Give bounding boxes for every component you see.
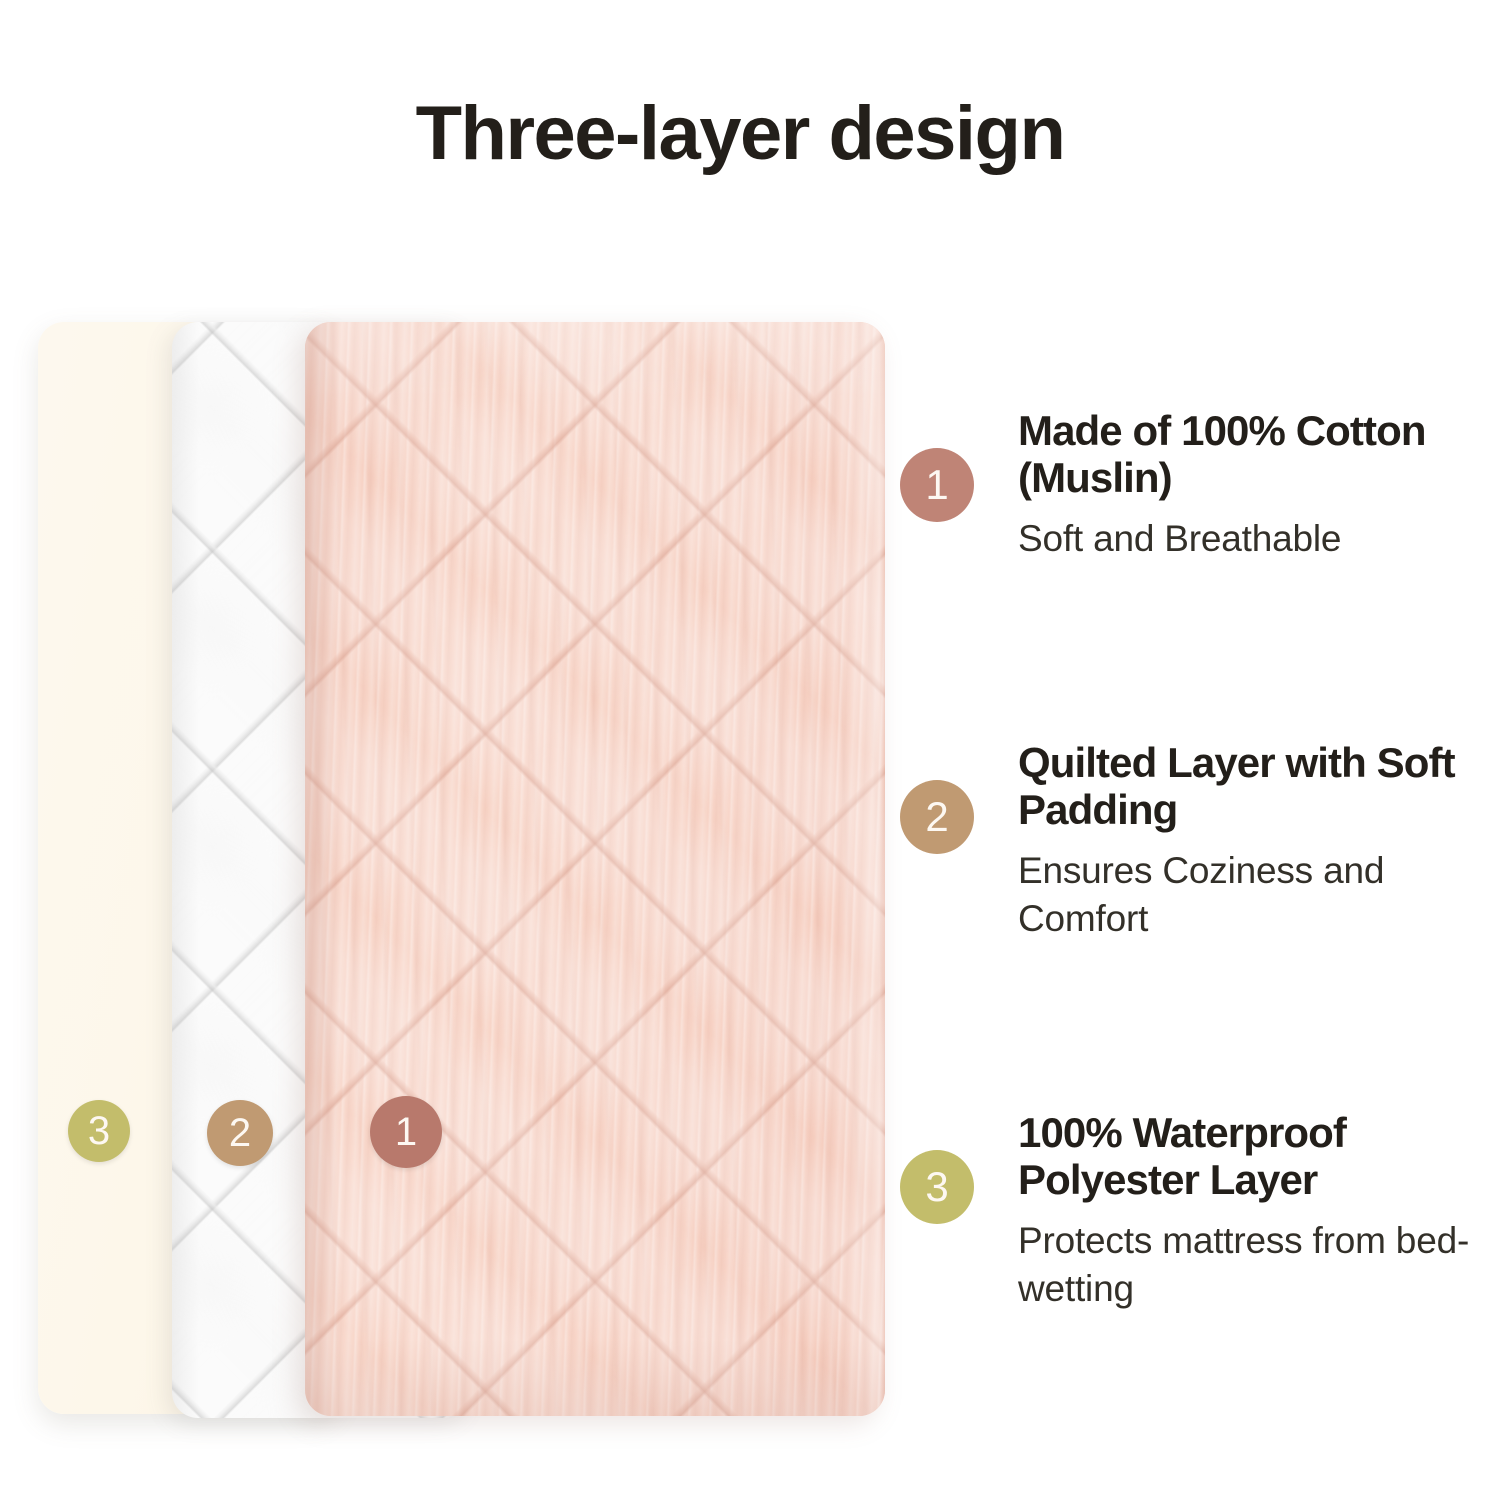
feature-item-cotton-muslin: 1 Made of 100% Cotton (Muslin) Soft and … [900, 408, 1500, 563]
feature-title-2: Quilted Layer with Soft Padding [1018, 740, 1500, 833]
feature-list: 1 Made of 100% Cotton (Muslin) Soft and … [900, 300, 1500, 1430]
stack-badge-3: 3 [68, 1100, 130, 1162]
feature-text-block: Made of 100% Cotton (Muslin) Soft and Br… [1018, 408, 1500, 563]
feature-subtitle-3: Protects mattress from bed-wetting [1018, 1217, 1500, 1312]
stack-badge-2: 2 [207, 1100, 273, 1166]
feature-text-block: Quilted Layer with Soft Padding Ensures … [1018, 740, 1500, 942]
feature-badge-2: 2 [900, 780, 974, 854]
product-layer-cotton-muslin [305, 322, 885, 1416]
layer-edge-shading [305, 322, 885, 1416]
feature-item-quilted-padding: 2 Quilted Layer with Soft Padding Ensure… [900, 740, 1500, 942]
feature-item-waterproof-polyester: 3 100% Waterproof Polyester Layer Protec… [900, 1110, 1500, 1312]
feature-badge-1: 1 [900, 448, 974, 522]
feature-badge-3: 3 [900, 1150, 974, 1224]
feature-subtitle-2: Ensures Coziness and Comfort [1018, 847, 1500, 942]
feature-title-3: 100% Waterproof Polyester Layer [1018, 1110, 1500, 1203]
page-title: Three-layer design [0, 96, 1480, 172]
feature-text-block: 100% Waterproof Polyester Layer Protects… [1018, 1110, 1500, 1312]
infographic-page: Three-layer design 3 2 1 1 Made of 100% … [0, 0, 1500, 1500]
stack-badge-1: 1 [370, 1096, 442, 1168]
feature-subtitle-1: Soft and Breathable [1018, 515, 1500, 562]
feature-title-1: Made of 100% Cotton (Muslin) [1018, 408, 1500, 501]
product-layer-stack: 3 2 1 [0, 300, 940, 1430]
